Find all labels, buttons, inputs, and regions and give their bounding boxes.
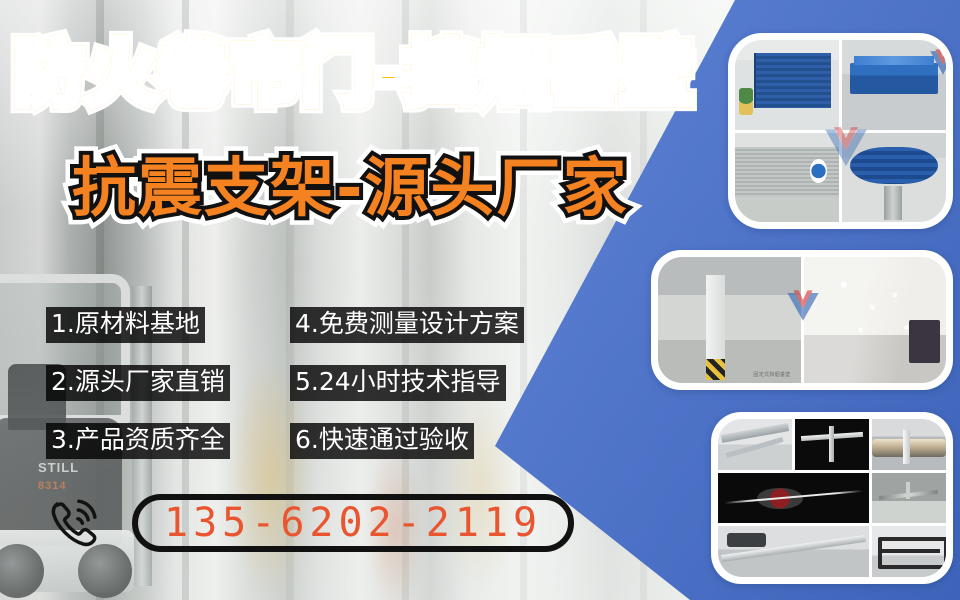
headline-primary-text: 防火卷帘门-挡烟垂壁 bbox=[14, 33, 693, 115]
photo-ceiling-downlights bbox=[804, 257, 947, 383]
feature-item-6: 6.快速通过验收 bbox=[290, 423, 474, 459]
feature-item-1: 1.原材料基地 bbox=[46, 307, 205, 343]
photo-grey-shutter-garage bbox=[735, 133, 839, 223]
photo-blue-fire-shutter bbox=[735, 40, 839, 130]
phone-number-text: 135-6202-2119 bbox=[164, 502, 542, 544]
v-logo-watermark-icon bbox=[926, 46, 946, 80]
photo-lateral-brace-dark bbox=[718, 473, 869, 524]
feature-item-4: 4.免费测量设计方案 bbox=[290, 307, 524, 343]
headline-primary: 防火卷帘门-挡烟垂壁 防火卷帘门-挡烟垂壁 防火卷帘门-挡烟垂壁 bbox=[14, 34, 693, 114]
contact-row: 135-6202-2119 bbox=[44, 492, 574, 554]
photo-ceiling-sway-brace bbox=[872, 473, 946, 524]
feature-item-3: 3.产品资质齐全 bbox=[46, 423, 230, 459]
headline-secondary: 抗震支架-源头厂家 抗震支架-源头厂家 抗震支架-源头厂家 bbox=[72, 152, 629, 226]
feature-list: 1.原材料基地 4.免费测量设计方案 2.源头厂家直销 5.24小时技术指导 3… bbox=[46, 296, 566, 470]
feature-item-2: 2.源头厂家直销 bbox=[46, 365, 230, 401]
photo-roll-forming-machine bbox=[842, 40, 946, 130]
photo-pipe-clamp-bracket bbox=[872, 419, 946, 470]
feature-item-5: 5.24小时技术指导 bbox=[290, 365, 506, 401]
photo-duct-support-brace bbox=[718, 526, 869, 577]
fire-shutter-collage bbox=[728, 33, 953, 229]
phone-number-pill[interactable]: 135-6202-2119 bbox=[132, 494, 574, 552]
smoke-barrier-collage: 固定式挡烟垂壁 bbox=[651, 250, 953, 390]
photo-seismic-brace-detail bbox=[795, 419, 869, 470]
photo-parking-garage: 固定式挡烟垂壁 bbox=[658, 257, 801, 383]
phone-call-icon bbox=[44, 492, 106, 554]
photo-steel-trapeze-rack bbox=[872, 526, 946, 577]
promo-banner: STILL 8314 防火卷帘门-挡烟垂壁 防火卷帘门-挡烟垂壁 防火卷帘门-挡… bbox=[0, 0, 960, 600]
seismic-bracket-collage bbox=[711, 412, 953, 584]
headline-secondary-text: 抗震支架-源头厂家 bbox=[72, 152, 629, 226]
photo-ceiling-pipe-bracing bbox=[718, 419, 792, 470]
collage-caption: 固定式挡烟垂壁 bbox=[753, 371, 790, 378]
photo-smoke-curtain-coil bbox=[842, 133, 946, 223]
